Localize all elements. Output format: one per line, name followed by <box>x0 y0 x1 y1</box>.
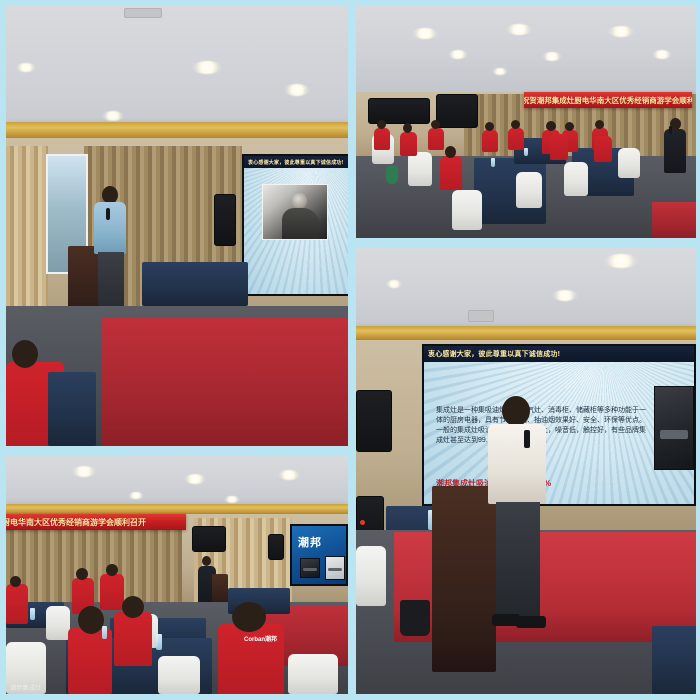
downlight-icon <box>192 61 222 74</box>
ceiling <box>356 6 696 92</box>
room-scene-bl: 厨电华南大区优秀经销商游学会顺利召开 潮邦 <box>6 456 348 694</box>
bin <box>400 600 430 636</box>
downlight-icon <box>128 492 144 499</box>
chair <box>516 172 542 208</box>
ceiling-vent-icon <box>124 8 162 18</box>
attendee-head <box>122 596 144 618</box>
attendee-vest <box>374 128 390 150</box>
speaker-shoe <box>516 616 546 628</box>
pa-speaker <box>214 194 236 246</box>
av-table <box>142 262 248 306</box>
slide-photo <box>262 184 328 240</box>
bin <box>386 166 398 184</box>
speaker-trousers <box>496 502 540 618</box>
downlight-icon <box>506 24 532 35</box>
presenter-head <box>202 556 211 566</box>
chair <box>564 162 588 196</box>
projection-screen: 衷心感谢大家，彼此尊重以真下诚信成功! 集成灶是一种集吸油烟机、燃气灶、消毒柜、… <box>422 344 696 506</box>
event-banner: 厨电华南大区优秀经销商游学会顺利召开 <box>6 514 186 530</box>
chair <box>356 546 386 606</box>
attendee-head <box>76 568 88 580</box>
attendee-vest <box>400 132 417 156</box>
attendee-head <box>565 122 574 131</box>
attendee-vest <box>508 128 524 150</box>
attendee-head <box>106 564 118 576</box>
attendee-vest <box>550 134 568 160</box>
downlight-icon <box>16 63 36 72</box>
microphone-icon <box>524 430 530 448</box>
downlight-icon <box>224 496 240 503</box>
slide-brand-text: 潮邦 <box>298 534 322 550</box>
attendee-vest <box>6 584 28 624</box>
photo-collage: 衷心感谢大家，彼此尊重以真下诚信成功! <box>0 0 700 700</box>
water-bottle <box>30 608 35 620</box>
attendee-vest <box>114 612 152 666</box>
product-image <box>325 556 345 580</box>
attendee-head <box>595 120 604 129</box>
collage-panel-top-left[interactable]: 衷心感谢大家，彼此尊重以真下诚信成功! <box>6 6 348 446</box>
chair <box>618 148 640 178</box>
room-scene-br: 衷心感谢大家，彼此尊重以真下诚信成功! 集成灶是一种集吸油烟机、燃气灶、消毒柜、… <box>356 248 696 694</box>
microphone-icon <box>106 208 110 220</box>
downlight-icon <box>492 68 508 75</box>
speaker-head <box>502 396 530 426</box>
foreground-table <box>652 626 696 694</box>
screen-header-text: 衷心感谢大家，彼此尊重以真下诚信成功! <box>424 346 694 362</box>
foreground-attendee-head <box>12 340 38 368</box>
product-slide-screen: 潮邦 <box>290 524 348 586</box>
vest-brand-logo: Corban潮邦 <box>244 634 277 643</box>
attendee-head <box>431 120 440 129</box>
cove-light <box>6 122 348 138</box>
curtain-left <box>6 518 182 614</box>
downlight-icon <box>284 84 310 96</box>
attendee-head <box>511 120 520 129</box>
attendee-vest <box>100 574 124 610</box>
attendee-head <box>78 606 104 634</box>
attendee-head <box>403 123 412 133</box>
downlight-icon <box>652 50 672 59</box>
attendee-head <box>546 121 556 131</box>
host-suit <box>664 129 686 173</box>
downlight-icon <box>552 290 578 301</box>
rear-equipment <box>436 94 478 128</box>
collage-panel-bottom-right[interactable]: 衷心感谢大家，彼此尊重以真下诚信成功! 集成灶是一种集吸油烟机、燃气灶、消毒柜、… <box>356 248 696 694</box>
chair <box>46 606 70 640</box>
pa-speaker <box>268 534 284 560</box>
red-carpet <box>102 318 348 446</box>
downlight-icon <box>542 52 562 61</box>
collage-panel-bottom-left[interactable]: 厨电华南大区优秀经销商游学会顺利召开 潮邦 <box>6 456 348 694</box>
attendee-vest <box>594 136 612 162</box>
chair <box>288 654 338 694</box>
room-scene-tr: 热烈祝贺潮邦集成灶厨电华南大区优秀经销商游学会顺利召开 <box>356 6 696 238</box>
downlight-icon <box>72 466 96 477</box>
water-bottle <box>102 626 107 639</box>
speaker-shirt <box>488 424 546 504</box>
cove-light <box>6 504 348 514</box>
attendee-head <box>485 122 494 131</box>
screen-header-text: 衷心感谢大家，彼此尊重以真下诚信成功! <box>244 156 348 168</box>
event-banner: 热烈祝贺潮邦集成灶厨电华南大区优秀经销商游学会顺利召开 <box>524 92 692 108</box>
attendee-head <box>377 120 386 129</box>
downlight-icon <box>184 474 206 484</box>
photo-watermark: 潮邦集成灶 <box>10 683 42 692</box>
downlight-icon <box>604 254 638 268</box>
room-scene-tl: 衷心感谢大家，彼此尊重以真下诚信成功! <box>6 6 348 446</box>
speaker-shirt <box>94 202 126 254</box>
microphone-icon <box>669 126 672 134</box>
rear-cabinet <box>368 98 430 124</box>
downlight-icon <box>608 26 634 37</box>
attendee-vest <box>428 128 444 150</box>
water-bottle <box>491 158 495 167</box>
ceiling <box>6 456 348 510</box>
downlight-icon <box>386 280 402 288</box>
cove-light <box>356 326 696 340</box>
projection-screen: 衷心感谢大家，彼此尊重以真下诚信成功! <box>242 154 348 296</box>
red-carpet <box>652 202 696 238</box>
product-image <box>654 386 694 470</box>
collage-panel-top-right[interactable]: 热烈祝贺潮邦集成灶厨电华南大区优秀经销商游学会顺利召开 <box>356 6 696 238</box>
foreground-table <box>48 372 96 446</box>
ceiling <box>356 248 696 334</box>
downlight-icon <box>102 111 124 121</box>
downlight-icon <box>448 50 468 59</box>
downlight-icon <box>412 28 438 39</box>
status-led-red <box>360 520 365 525</box>
water-bottle <box>156 634 162 650</box>
attendee-head <box>232 602 266 632</box>
attendee-head <box>445 146 456 158</box>
chair <box>452 190 482 230</box>
product-image <box>300 558 320 578</box>
water-bottle <box>524 148 528 156</box>
attendee-vest <box>482 130 498 152</box>
attendee-vest <box>440 156 462 190</box>
pa-speaker <box>356 390 392 452</box>
attendee-head <box>10 576 21 587</box>
chair <box>158 656 200 694</box>
downlight-icon <box>278 470 300 480</box>
ceiling-vent-icon <box>468 310 494 322</box>
podium <box>432 486 496 672</box>
chair <box>408 152 432 186</box>
wall-monitor <box>192 526 226 552</box>
